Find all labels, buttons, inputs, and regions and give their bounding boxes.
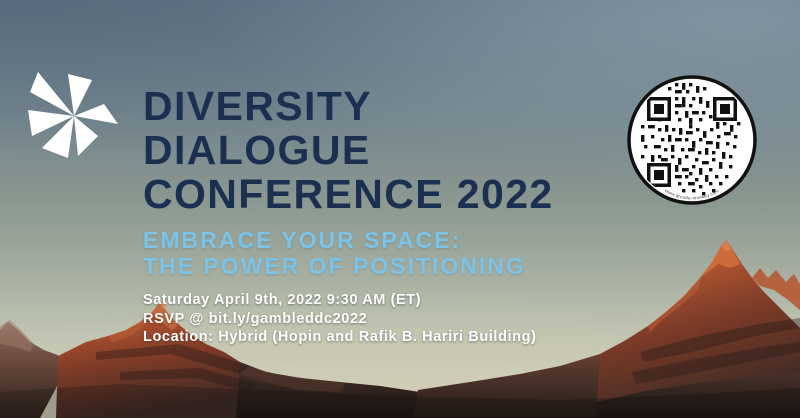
- logo-wedge-1: [68, 74, 92, 116]
- qr-code[interactable]: www.qrcode-monkey.com: [627, 75, 757, 205]
- qr-finder-top-left: [647, 97, 671, 121]
- pinwheel-logo: [28, 70, 120, 162]
- subtitle-line-1: EMBRACE YOUR SPACE:: [143, 227, 613, 253]
- event-datetime: Saturday April 9th, 2022 9:30 AM (ET): [143, 291, 613, 310]
- logo-wedge-5: [74, 116, 98, 156]
- logo-wedge-6: [74, 104, 118, 124]
- page-title-line-2: DIALOGUE: [143, 128, 613, 172]
- page-title-line-3: CONFERENCE 2022: [143, 172, 613, 216]
- rsvp-link[interactable]: RSVP @ bit.ly/gambleddc2022: [143, 310, 613, 329]
- qr-finder-bottom-left: [647, 163, 671, 187]
- event-poster: www.qrcode-monkey.com DIVERSITY DIALOGUE…: [0, 0, 800, 418]
- subtitle-line-2: THE POWER OF POSITIONING: [143, 253, 613, 279]
- page-title-line-1: DIVERSITY: [143, 84, 613, 128]
- event-location: Location: Hybrid (Hopin and Rafik B. Har…: [143, 328, 613, 347]
- qr-finder-top-right: [713, 97, 737, 121]
- poster-text-block: DIVERSITY DIALOGUE CONFERENCE 2022 EMBRA…: [143, 84, 613, 347]
- logo-wedge-2: [30, 72, 74, 116]
